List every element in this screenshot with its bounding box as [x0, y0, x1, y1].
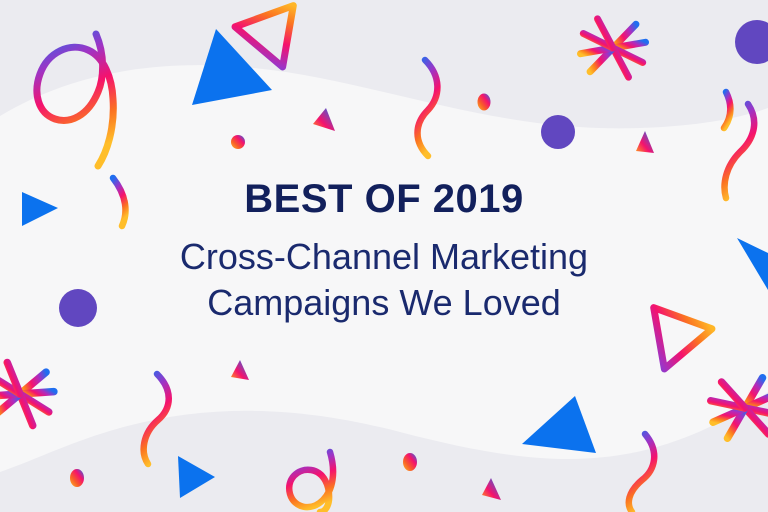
s-curve-ribbon-upper-center [418, 60, 438, 156]
blue-triangle-bottom-left [178, 456, 215, 498]
gradient-dot-upper-left [231, 135, 245, 149]
blue-triangle-top-left [192, 29, 272, 105]
spiral-ribbon-top-left [37, 34, 113, 166]
purple-circle-top-right-edge [735, 20, 768, 64]
mini-triangle-lower-center [482, 478, 501, 500]
s-curve-ribbon-bottom-right [629, 434, 654, 512]
s-curve-ribbon-bottom-left [144, 374, 169, 464]
hook-ribbon-left [113, 178, 125, 226]
gradient-dot-lower-center [403, 453, 417, 471]
purple-circle-left [59, 289, 97, 327]
mini-triangle-lower-left [231, 360, 249, 380]
confetti-layer [0, 0, 768, 512]
blue-triangle-bottom-center [522, 396, 596, 453]
s-curve-ribbon-upper-right-small [724, 92, 730, 128]
coil-ribbon-bottom-center [289, 452, 333, 512]
starburst-top-right [577, 11, 648, 85]
outline-triangle-bottom-right [635, 308, 712, 380]
purple-circle-center-right [541, 115, 575, 149]
promo-banner: BEST OF 2019 Cross-Channel Marketing Cam… [0, 0, 768, 512]
starburst-bottom-right [708, 370, 768, 447]
starburst-bottom-left [0, 353, 60, 435]
mini-triangle-upper-center [313, 108, 335, 131]
blue-triangle-left [22, 192, 58, 226]
blue-triangle-right [737, 238, 768, 290]
gradient-dot-upper-center [478, 94, 491, 111]
gradient-dot-lower-left [70, 469, 84, 487]
mini-triangle-upper-right [636, 131, 654, 153]
